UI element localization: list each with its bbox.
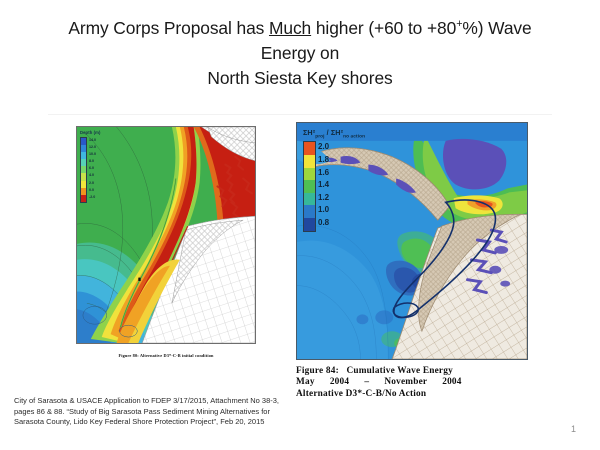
legend-swatch — [81, 152, 86, 159]
legend-tick: 0.8 — [318, 217, 329, 230]
legend-swatch — [304, 142, 315, 155]
legend-tick: 0.0 — [89, 187, 96, 194]
legend-swatch — [304, 193, 315, 206]
title-text-part-3: %) Wave — [462, 18, 531, 38]
figure-right-caption-line-1: Figure 84: Cumulative Wave Energy — [296, 366, 528, 377]
legend-left: Depth (m) 14.0 12 — [80, 130, 100, 203]
page-title: Army Corps Proposal has Much higher (+60… — [28, 16, 572, 91]
legend-right: ΣH²proj / ΣH²no action 2.0 1.8 — [303, 128, 365, 232]
legend-tick: 2.0 — [89, 180, 96, 187]
legend-tick: 1.4 — [318, 179, 329, 192]
legend-swatch — [81, 166, 86, 173]
title-text-part-1: Army Corps Proposal has — [68, 18, 269, 38]
source-line-2: pages 86 & 88. “Study of Big Sarasota Pa… — [14, 407, 314, 418]
legend-tick: 1.2 — [318, 192, 329, 205]
legend-right-title-sub1: proj — [315, 134, 324, 139]
legend-tick: 14.0 — [89, 137, 96, 144]
legend-left-colorbar — [80, 137, 87, 204]
title-emphasis-much: Much — [269, 18, 311, 38]
legend-tick: 12.0 — [89, 144, 96, 151]
legend-right-title-sub2: no action — [343, 134, 365, 139]
legend-swatch — [304, 218, 315, 231]
legend-right-title-sigma2: ΣH² — [331, 128, 343, 137]
legend-right-title-sigma1: ΣH² — [303, 128, 315, 137]
legend-swatch — [81, 181, 86, 188]
legend-swatch — [81, 173, 86, 180]
source-line-3: Sarasota County, Lido Key Federal Shore … — [14, 417, 314, 428]
legend-tick: 1.0 — [318, 204, 329, 217]
legend-swatch — [81, 188, 86, 195]
figure-right-caption-line-3: Alternative D3*-C-B/No Action — [296, 389, 528, 400]
legend-swatch — [81, 145, 86, 152]
legend-left-labels: 14.0 12.0 10.0 8.0 6.0 4.0 2.0 0.0 -2.0 — [89, 137, 96, 202]
legend-swatch — [304, 180, 315, 193]
source-citation: City of Sarasota & USACE Application to … — [14, 396, 314, 428]
legend-swatch — [81, 138, 86, 145]
slide-number: 1 — [571, 424, 576, 434]
legend-swatch — [81, 159, 86, 166]
legend-swatch — [304, 205, 315, 218]
map-right-canvas: ΣH²proj / ΣH²no action 2.0 1.8 — [296, 122, 528, 360]
title-line-3: North Siesta Key shores — [207, 68, 392, 88]
title-line-2: Energy on — [261, 43, 339, 63]
legend-tick: 1.6 — [318, 167, 329, 180]
title-divider-artifact — [48, 114, 552, 115]
legend-swatch — [304, 168, 315, 181]
slide-canvas: Army Corps Proposal has Much higher (+60… — [0, 0, 600, 450]
source-line-1: City of Sarasota & USACE Application to … — [14, 396, 314, 407]
map-left-raster — [77, 127, 255, 343]
figure-right-caption-line-2: May 2004 – November 2004 — [296, 377, 528, 388]
figure-left-bathymetry: Depth (m) 14.0 12 — [76, 126, 256, 366]
legend-tick: 10.0 — [89, 151, 96, 158]
figure-right-caption: Figure 84: Cumulative Wave Energy May 20… — [296, 366, 528, 400]
legend-tick: 6.0 — [89, 165, 96, 172]
figure-right-wave-energy: ΣH²proj / ΣH²no action 2.0 1.8 — [296, 122, 528, 400]
legend-right-title: ΣH²proj / ΣH²no action — [303, 128, 365, 139]
figure-left-caption: Figure 80: Alternative D3*-C-B initial c… — [76, 353, 256, 358]
legend-swatch — [81, 195, 86, 202]
legend-swatch — [304, 155, 315, 168]
legend-tick: -2.0 — [89, 194, 96, 201]
title-text-part-2: higher (+60 to +80 — [311, 18, 456, 38]
legend-tick: 1.8 — [318, 154, 329, 167]
legend-left-title: Depth (m) — [80, 130, 100, 135]
map-left-canvas: Depth (m) 14.0 12 — [76, 126, 256, 344]
legend-right-colorbar — [303, 141, 316, 231]
legend-tick: 8.0 — [89, 158, 96, 165]
legend-tick: 2.0 — [318, 141, 329, 154]
legend-tick: 4.0 — [89, 172, 96, 179]
legend-right-labels: 2.0 1.8 1.6 1.4 1.2 1.0 0.8 — [318, 141, 329, 229]
